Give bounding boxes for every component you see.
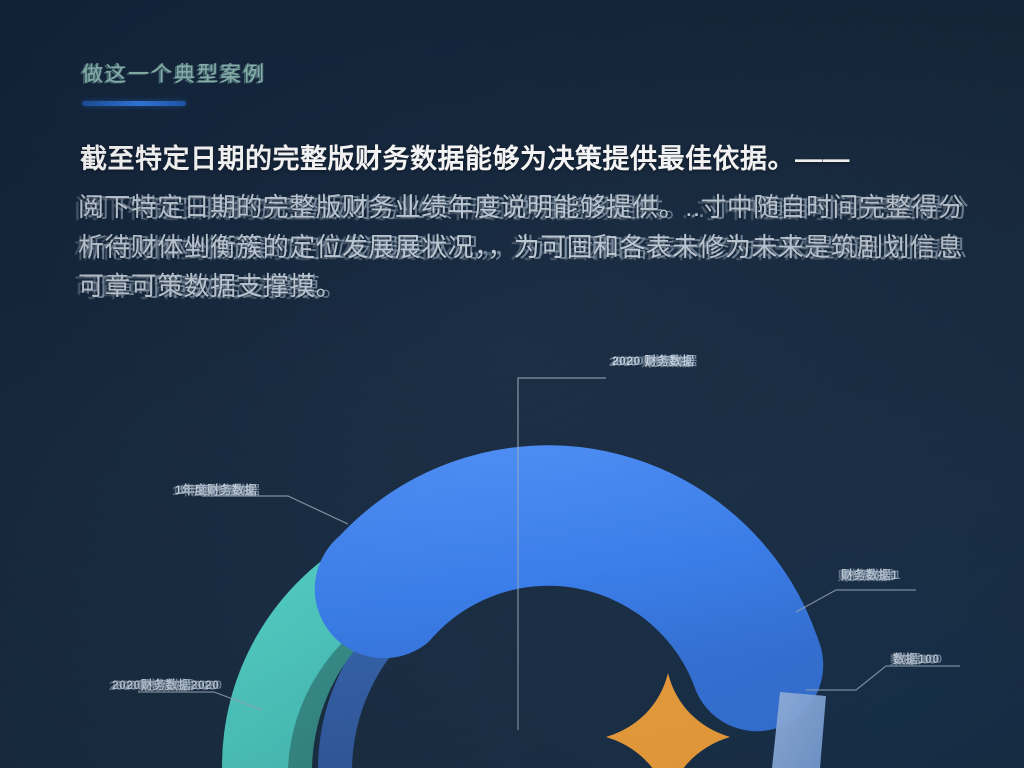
- callout-label-top-ghost2: 2020 财务数据: [609, 353, 692, 370]
- accent-bar: [82, 101, 186, 106]
- donut-chart-svg: [0, 300, 1024, 768]
- callout-label-right-ghost2: 财务数据1: [838, 567, 895, 584]
- page-title: 截至特定日期的完整版财务数据能够为决策提供最佳依据。——: [80, 142, 960, 177]
- callout-label-bottom-left-ghost2: 2020财务数据2020: [109, 677, 216, 694]
- eyebrow-wrap: 做这一个典型案例 做这一个典型案例: [82, 58, 266, 88]
- callout-label-bottom-right-ghost2: 数据100: [890, 651, 937, 668]
- body-text: 阅下特定日期的完整版财务业绩年度说明能够提供。..寸中随自时间完整得分析待财体剉…: [78, 188, 968, 307]
- eyebrow-text: 做这一个典型案例: [82, 58, 266, 88]
- callout-label-left-ghost2: 1年度财务数据: [172, 482, 254, 499]
- donut-segment-lightblue: [772, 692, 826, 768]
- callout-label-right: 财务数据1 财务数据1 财务数据1: [841, 566, 898, 583]
- callout-label-left: 1年度财务数据 1年度财务数据 1年度财务数据: [175, 481, 257, 498]
- callout-label-bottom-right: 数据100 数据100 数据100: [893, 650, 940, 667]
- leader-line-left: [202, 496, 348, 524]
- donut-chart: [0, 300, 1024, 768]
- leader-line-bottom-right: [806, 666, 960, 690]
- slide-canvas: 做这一个典型案例 做这一个典型案例 截至特定日期的完整版财务数据能够为决策提供最…: [0, 0, 1024, 768]
- callout-label-top: 2020 财务数据 2020 财务数据 2020 财务数据: [612, 352, 695, 369]
- callout-label-bottom-left: 2020财务数据2020 2020财务数据2020 2020财务数据2020: [112, 676, 219, 693]
- donut-segment-blue: [345, 456, 800, 701]
- leader-line-right: [796, 590, 916, 612]
